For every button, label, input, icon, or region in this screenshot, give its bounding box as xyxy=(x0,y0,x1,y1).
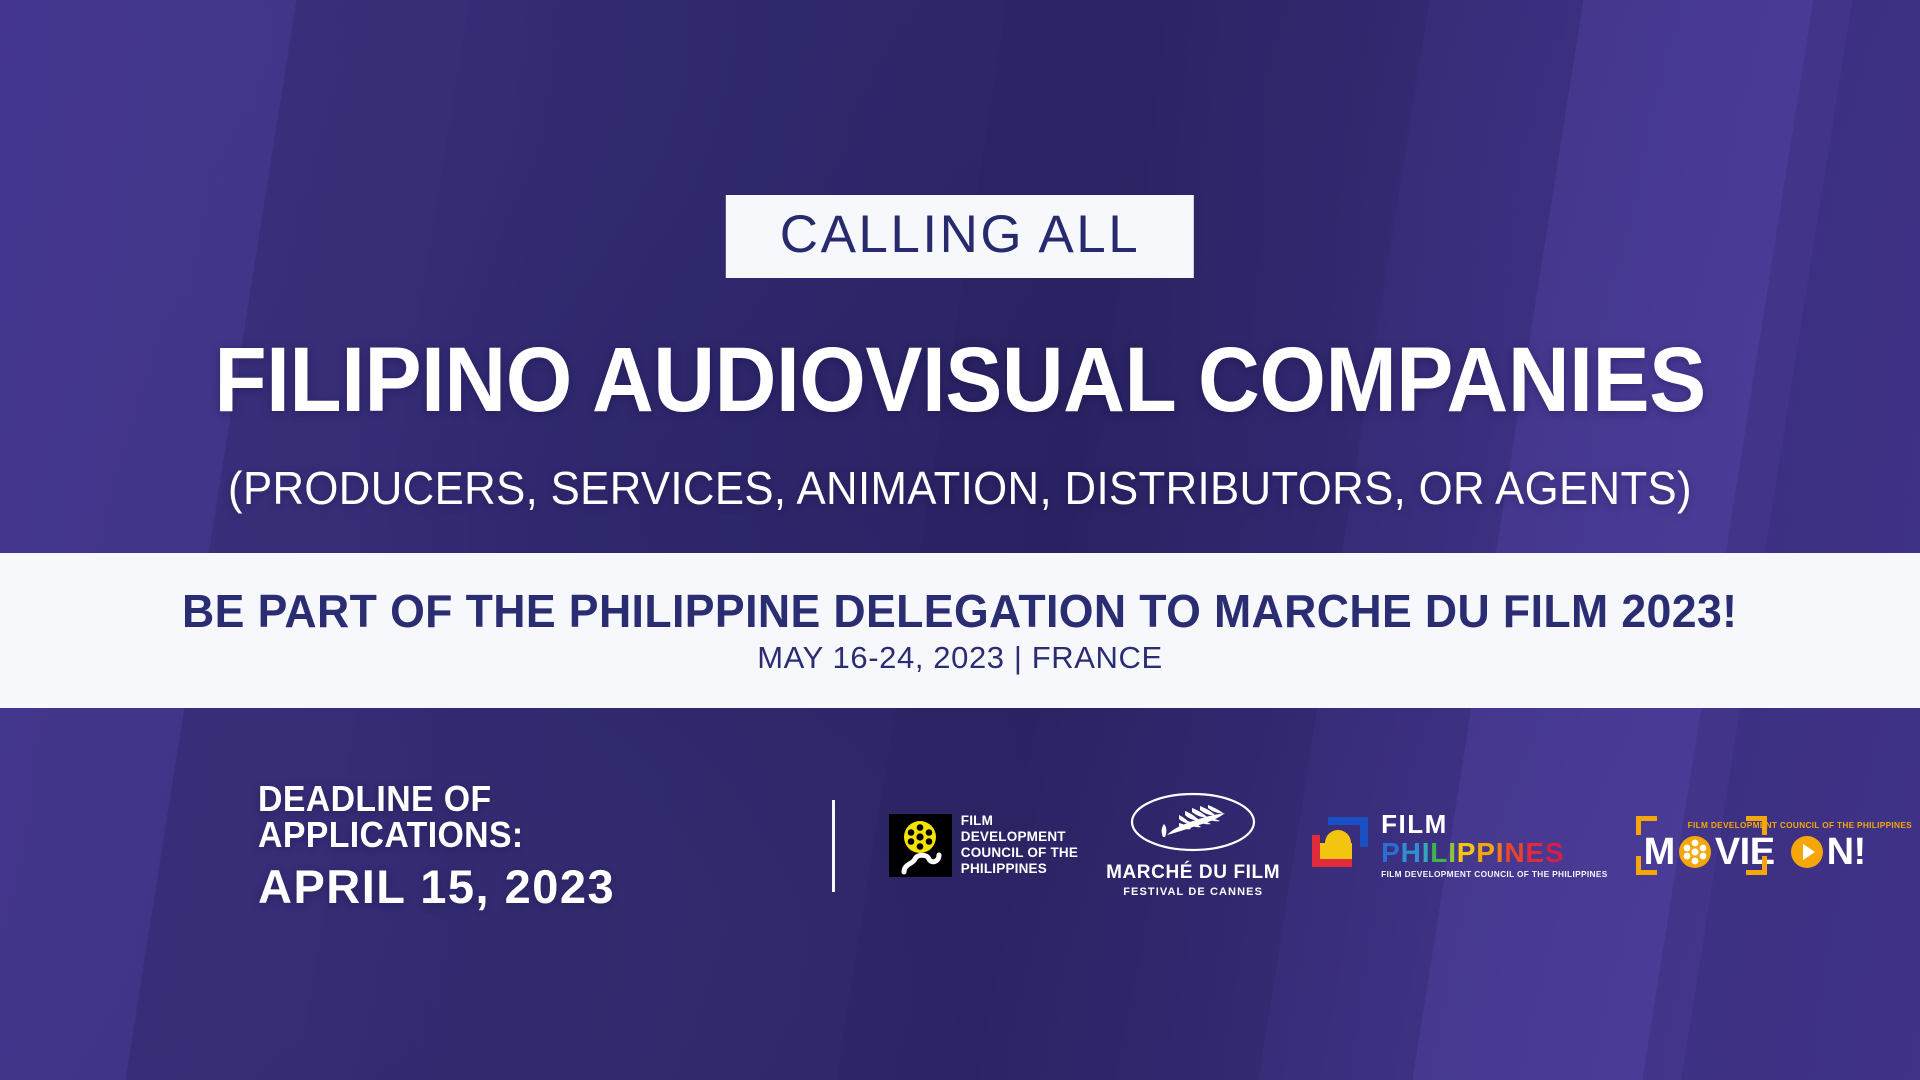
promo-banner: CALLING ALL FILIPINO AUDIOVISUAL COMPANI… xyxy=(0,0,1920,1080)
corner-bracket-top-left-icon xyxy=(1636,816,1657,835)
movie-on-reel-icon xyxy=(1677,834,1713,870)
band-message: BE PART OF THE PHILIPPINE DELEGATION TO … xyxy=(182,588,1737,634)
film-philippines-tagline: FILM DEVELOPMENT COUNCIL OF THE PHILIPPI… xyxy=(1381,870,1607,878)
fdcp-line-1: FILM xyxy=(961,813,1078,829)
fdcp-line-3: COUNCIL OF THE xyxy=(961,845,1078,861)
movie-on-letters-n: N! xyxy=(1827,833,1866,871)
fdcp-line-4: PHILIPPINES xyxy=(961,861,1078,877)
corner-bracket-bottom-right-icon xyxy=(1746,856,1767,875)
fdcp-wordmark: FILM DEVELOPMENT COUNCIL OF THE PHILIPPI… xyxy=(961,813,1078,877)
logo-film-philippines: FILM PHILIPPINES FILM DEVELOPMENT COUNCI… xyxy=(1308,811,1607,878)
eyebrow-box: CALLING ALL xyxy=(726,195,1194,278)
page-title: FILIPINO AUDIOVISUAL COMPANIES xyxy=(67,334,1853,426)
band-dateline: MAY 16-24, 2023 | FRANCE xyxy=(757,642,1163,673)
fdcp-line-2: DEVELOPMENT xyxy=(961,829,1078,845)
corner-bracket-bottom-left-icon xyxy=(1636,856,1657,875)
marche-subtitle: FESTIVAL DE CANNES xyxy=(1123,887,1263,898)
movie-on-tagline: FILM DEVELOPMENT COUNCIL OF THE PHILIPPI… xyxy=(1688,820,1912,830)
film-philippines-mark-icon xyxy=(1308,813,1372,876)
page-subtitle: (PRODUCERS, SERVICES, ANIMATION, DISTRIB… xyxy=(48,465,1872,511)
logo-movie-on: FILM DEVELOPMENT COUNCIL OF THE PHILIPPI… xyxy=(1636,816,1920,875)
film-philippines-word-philippines: PHILIPPINES xyxy=(1381,839,1607,867)
deadline-block: DEADLINE OF APPLICATIONS: APRIL 15, 2023 xyxy=(258,781,722,910)
footer-row: DEADLINE OF APPLICATIONS: APRIL 15, 2023 xyxy=(0,770,1920,920)
vertical-divider xyxy=(832,800,835,892)
marche-name: MARCHÉ DU FILM xyxy=(1106,863,1280,882)
logo-fdcp: FILM DEVELOPMENT COUNCIL OF THE PHILIPPI… xyxy=(889,813,1078,877)
film-philippines-word-film: FILM xyxy=(1381,811,1607,837)
play-button-icon xyxy=(1789,834,1825,870)
palm-leaf-icon xyxy=(1127,791,1259,858)
logo-marche-du-film: MARCHÉ DU FILM FESTIVAL DE CANNES xyxy=(1106,791,1280,898)
film-philippines-wordmark: FILM PHILIPPINES FILM DEVELOPMENT COUNCI… xyxy=(1381,811,1607,878)
message-band: BE PART OF THE PHILIPPINE DELEGATION TO … xyxy=(0,553,1920,708)
corner-bracket-top-right-icon xyxy=(1746,816,1767,835)
logo-strip: FILM DEVELOPMENT COUNCIL OF THE PHILIPPI… xyxy=(889,791,1920,900)
film-reel-icon xyxy=(889,814,952,877)
deadline-date: APRIL 15, 2023 xyxy=(258,863,722,910)
eyebrow-text: CALLING ALL xyxy=(780,208,1140,261)
movie-on-wordmark: M VIE xyxy=(1644,833,1912,871)
deadline-label: DEADLINE OF APPLICATIONS: xyxy=(258,781,694,853)
